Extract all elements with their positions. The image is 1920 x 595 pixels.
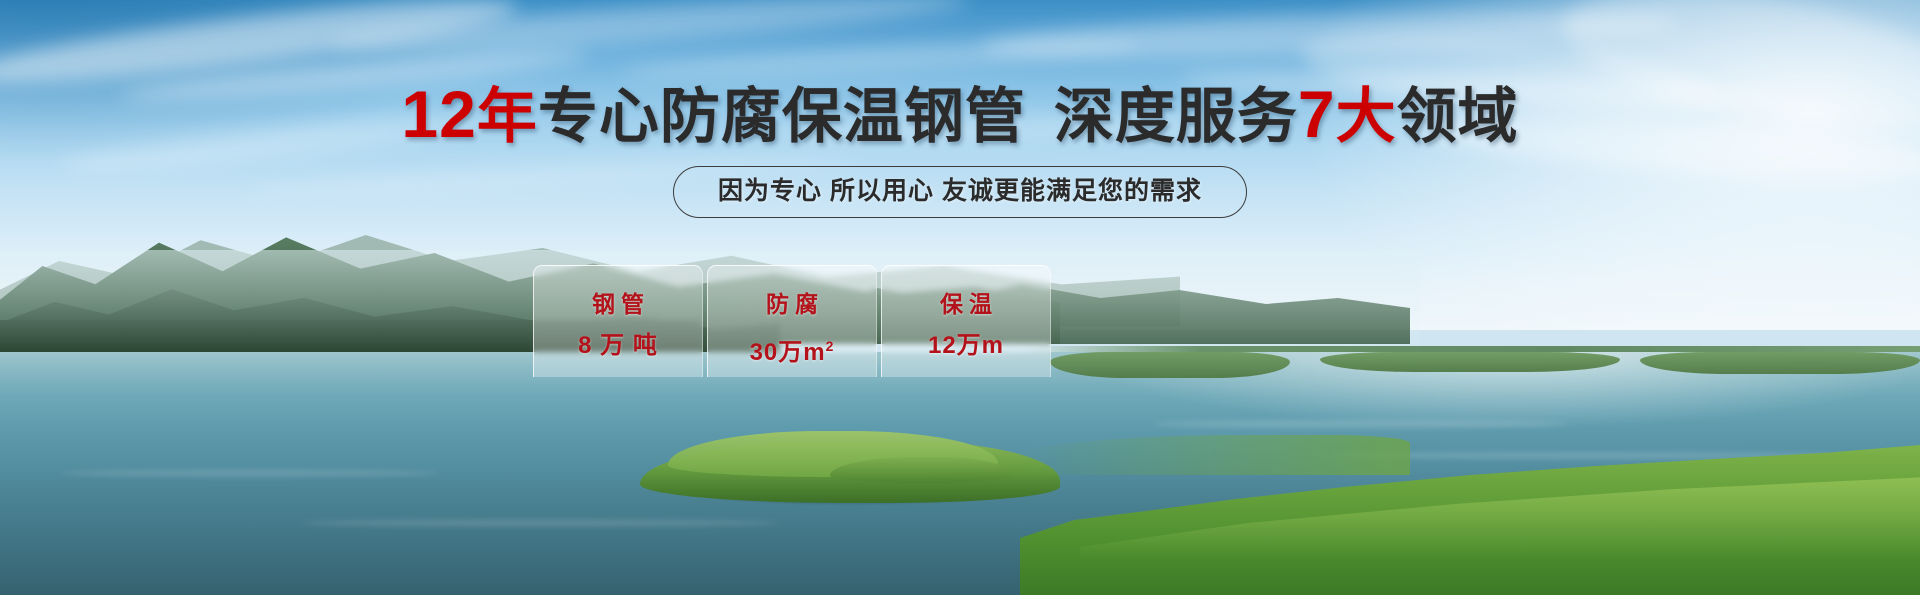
stat-card-title: 防腐 (760, 290, 824, 318)
banner-headline: 12年专心防腐保温钢管深度服务7大领域 (0, 78, 1920, 153)
water-ripple (1150, 420, 1570, 428)
banner-subtitle: 因为专心 所以用心 友诚更能满足您的需求 (673, 166, 1247, 218)
banner-subtitle-wrapper: 因为专心 所以用心 友诚更能满足您的需求 (0, 166, 1920, 218)
stat-card-value: 12万m (928, 332, 1004, 360)
headline-main-text: 专心防腐保温钢管 (538, 83, 1026, 150)
marsh-patch (1320, 352, 1620, 372)
headline-service-text: 深度服务 (1054, 83, 1298, 150)
headline-fields-number: 7 (1298, 77, 1336, 151)
stat-card-value: 30万m2 (750, 332, 835, 367)
headline-fields-unit: 大 (1336, 83, 1397, 150)
stat-card-value-superscript: 2 (826, 338, 835, 354)
stat-card-group: 钢管 8 万 吨 防腐 30万m2 保温 12万m (533, 265, 1051, 377)
hero-banner: 12年专心防腐保温钢管深度服务7大领域 因为专心 所以用心 友诚更能满足您的需求… (0, 0, 1920, 595)
stat-card: 保温 12万m (881, 265, 1051, 377)
water-ripple (300, 520, 780, 526)
water-ripple (60, 470, 440, 476)
stat-card-value-main: 30万m (750, 339, 826, 366)
stat-card: 防腐 30万m2 (707, 265, 877, 377)
headline-years-unit: 年 (477, 83, 538, 150)
stat-card: 钢管 8 万 吨 (533, 265, 703, 377)
stat-card-title: 钢管 (586, 290, 650, 318)
headline-fields-text: 领域 (1397, 83, 1519, 150)
stat-card-value-main: 12万m (928, 332, 1004, 359)
headline-years-number: 12 (401, 77, 476, 151)
marsh-patch (1050, 352, 1290, 378)
marsh-patch (1640, 352, 1920, 374)
stat-card-value: 8 万 吨 (578, 332, 658, 360)
stat-card-title: 保温 (934, 290, 998, 318)
stat-card-value-main: 8 万 吨 (578, 332, 658, 359)
grass-island-small (830, 457, 1010, 483)
